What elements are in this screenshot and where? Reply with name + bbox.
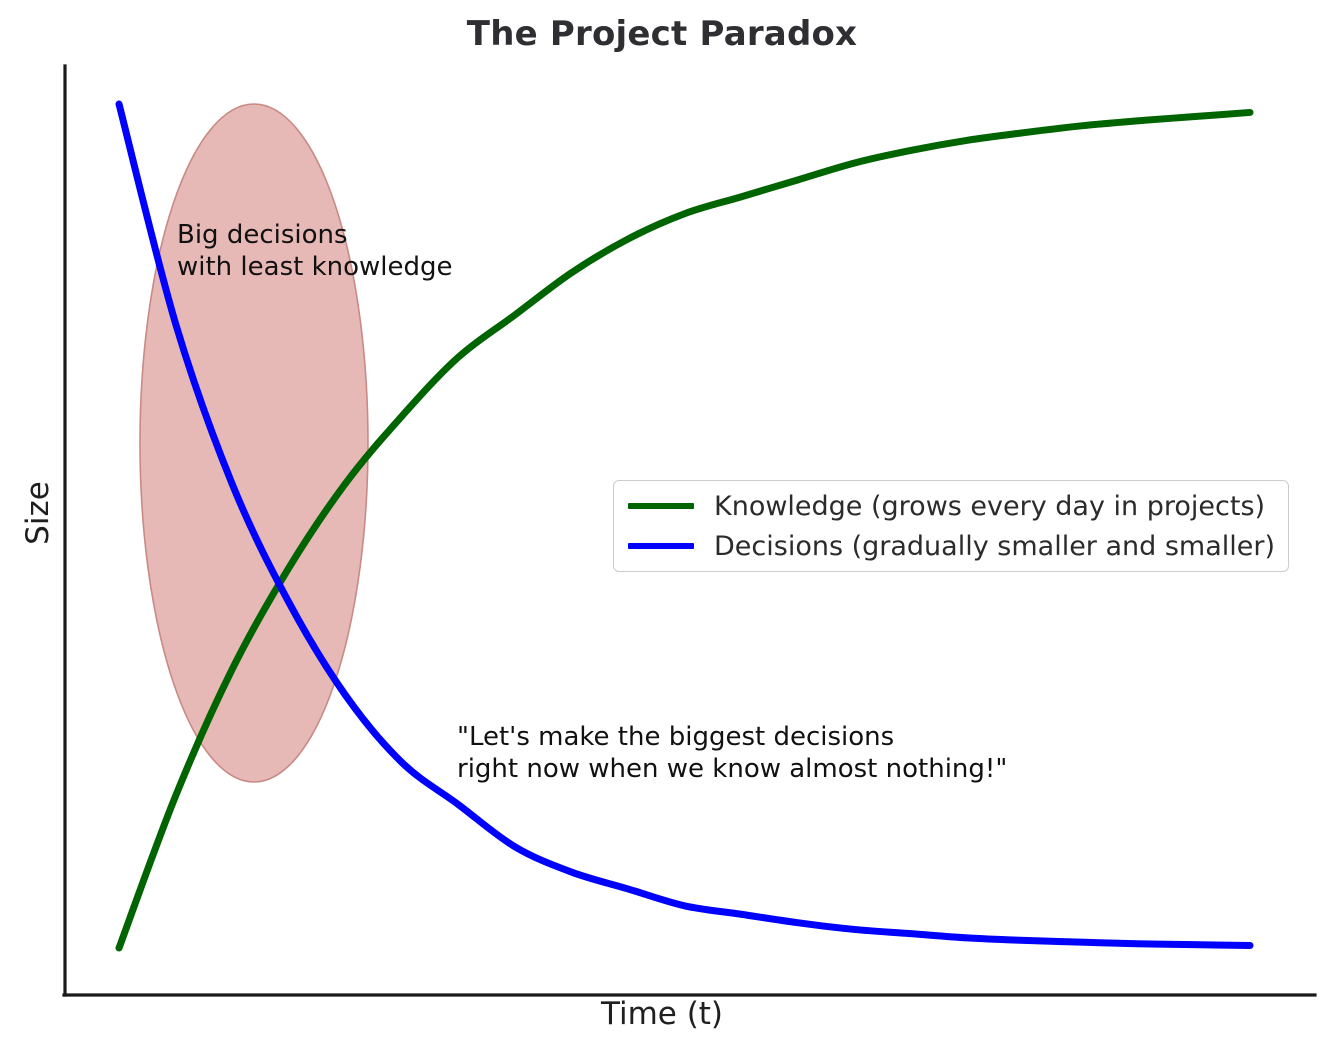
legend-swatch-knowledge-icon	[628, 503, 694, 509]
y-axis-label: Size	[20, 443, 56, 583]
chart-figure: The Project Paradox Big decisions with l…	[0, 0, 1324, 1054]
annotation-big-decisions-line1: Big decisions	[177, 220, 348, 250]
annotation-quote: "Let's make the biggest decisions right …	[457, 722, 1007, 785]
annotation-big-decisions: Big decisions with least knowledge	[177, 220, 453, 283]
legend-label-knowledge: Knowledge (grows every day in projects)	[714, 491, 1265, 522]
legend-label-decisions: Decisions (gradually smaller and smaller…	[714, 531, 1275, 562]
x-axis-label: Time (t)	[0, 996, 1324, 1032]
chart-legend: Knowledge (grows every day in projects) …	[613, 480, 1289, 572]
annotation-quote-line2: right now when we know almost nothing!"	[457, 754, 1007, 784]
legend-item-knowledge: Knowledge (grows every day in projects)	[628, 491, 1272, 521]
annotation-big-decisions-line2: with least knowledge	[177, 252, 453, 282]
legend-swatch-decisions-icon	[628, 543, 694, 549]
annotation-quote-line1: "Let's make the biggest decisions	[457, 722, 894, 752]
legend-item-decisions: Decisions (gradually smaller and smaller…	[628, 531, 1272, 561]
